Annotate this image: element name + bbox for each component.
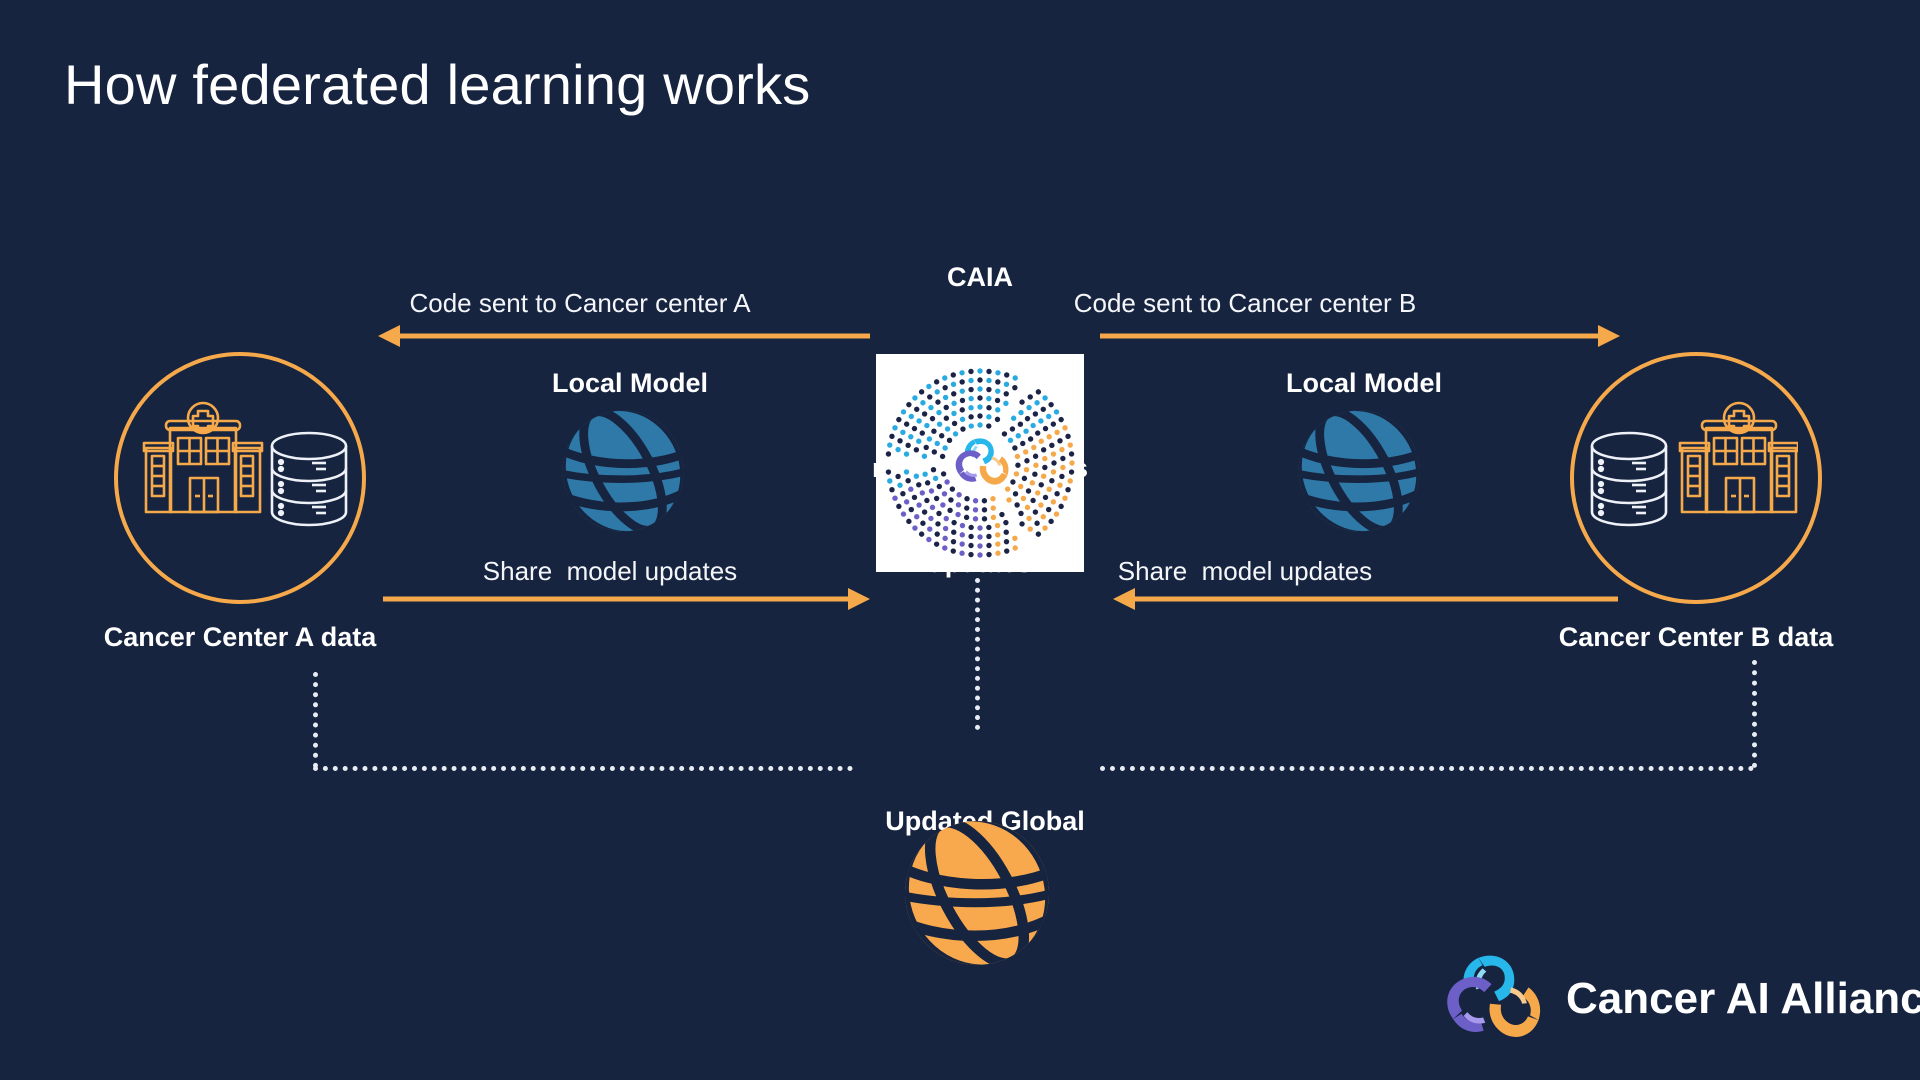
code-sent-b-arrow [1100,325,1620,347]
cancer-center-b-icons [1586,400,1798,540]
local-model-a-globe [560,408,686,534]
globe-icon [560,408,686,534]
cancer-center-a-icons [140,400,352,540]
code-sent-a-arrow [378,325,870,347]
page-title: How federated learning works [64,52,810,117]
globe-icon [1296,408,1422,534]
code-sent-b-label: Code sent to Cancer center B [1035,288,1455,319]
local-model-a-label: Local Model [500,368,760,400]
slide-canvas: How federated learning works CAIA Orches… [0,0,1920,1080]
cancer-ai-alliance-logo [1432,940,1548,1058]
cancer-center-b-label: Cancer Center B data [1516,622,1876,654]
share-updates-a-label: Share model updates [400,556,820,587]
dotted-connector-center-vertical [975,578,980,730]
updated-global-model-globe [902,818,1052,968]
dotted-connector-a-horizontal [313,766,853,771]
local-model-b-globe [1296,408,1422,534]
globe-icon [902,818,1052,968]
share-updates-a-arrow [383,588,870,610]
brand-name: Cancer AI Alliance [1566,974,1920,1024]
caia-orchestration-node [876,354,1084,572]
dotted-connector-a-vertical [313,672,318,768]
local-model-b-label: Local Model [1234,368,1494,400]
hospital-icon [144,403,262,512]
dotted-connector-b-vertical [1752,660,1757,768]
cancer-center-a-label: Cancer Center A data [60,622,420,654]
share-updates-b-arrow [1113,588,1618,610]
brand-logo-block: Cancer AI Alliance [1432,940,1920,1058]
dotted-connector-b-horizontal [1100,766,1754,771]
caia-orchestration-node-icon [876,354,1084,572]
share-updates-b-label: Share model updates [1035,556,1455,587]
hospital-icon [1680,403,1798,512]
database-icon [1592,433,1666,525]
database-icon [272,433,346,525]
code-sent-a-label: Code sent to Cancer center A [370,288,790,319]
